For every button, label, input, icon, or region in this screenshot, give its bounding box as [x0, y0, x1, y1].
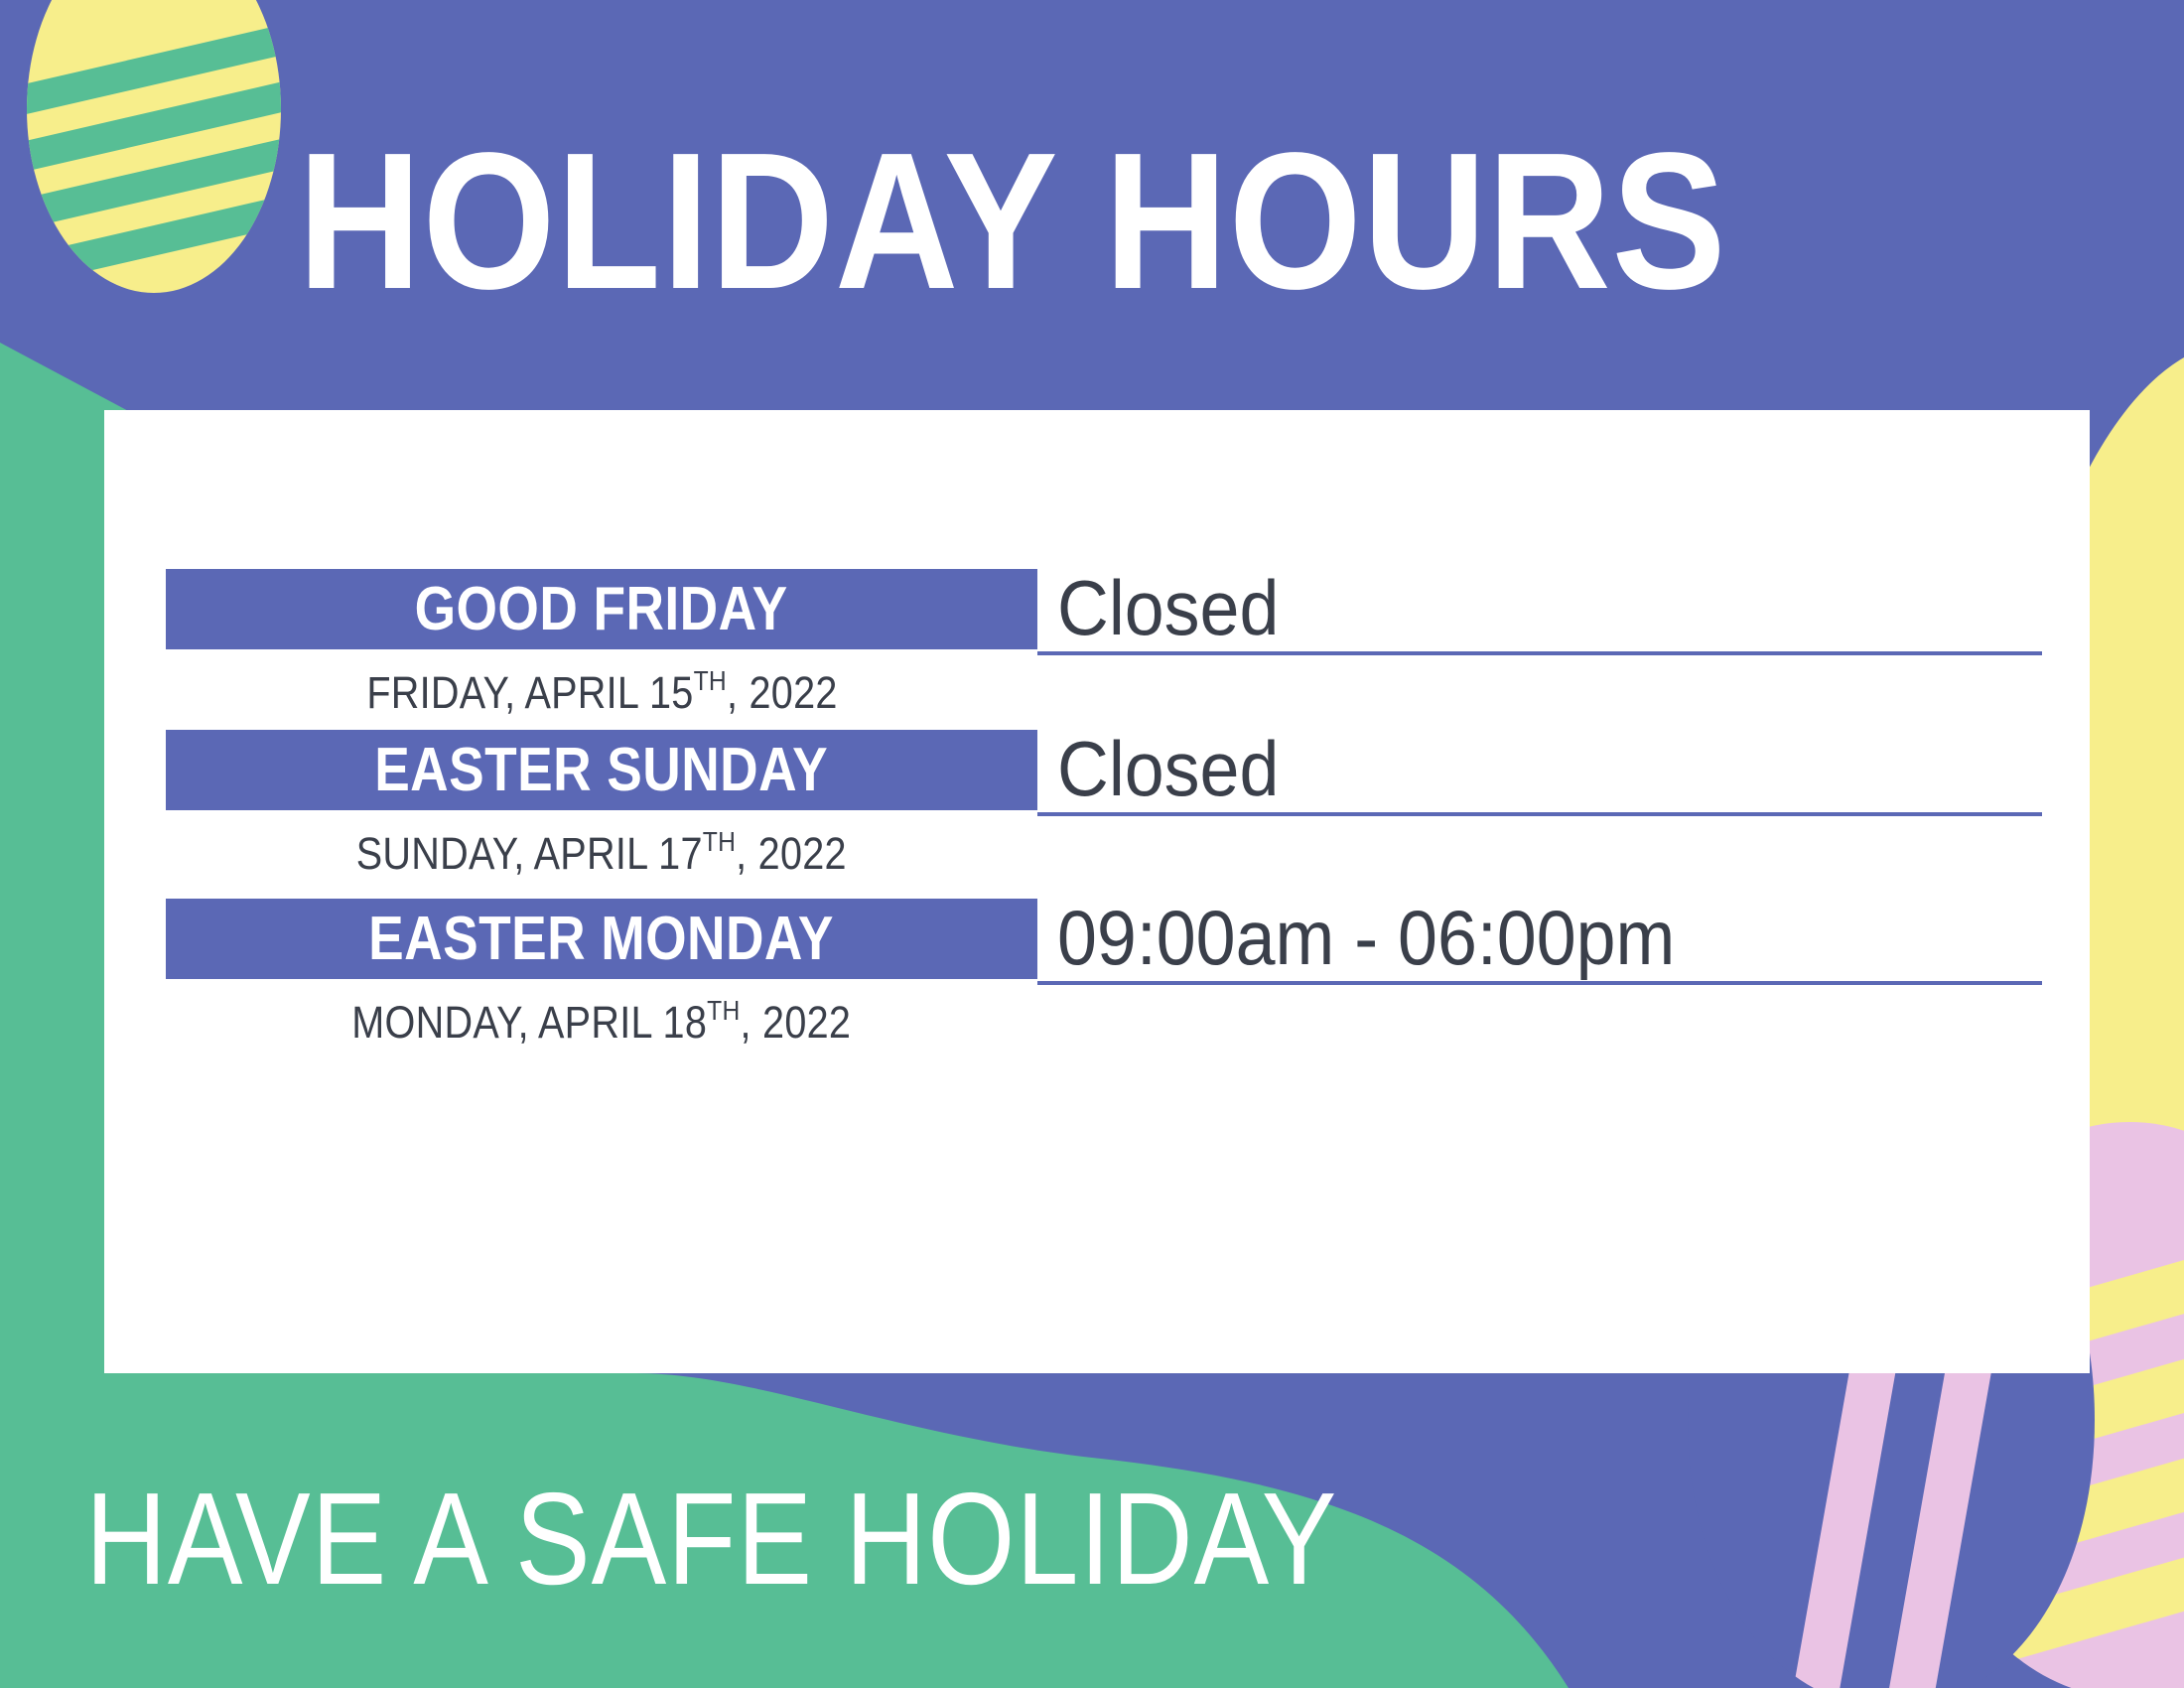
page-title: HOLIDAY HOURS — [298, 117, 1801, 326]
holiday-hours-poster: HOLIDAY HOURS GOOD FRIDAY FRIDAY, APRIL … — [0, 0, 2184, 1688]
holiday-hours-value: Closed — [1057, 565, 1279, 650]
holiday-date-ordinal: TH — [693, 665, 726, 696]
holiday-date-suffix: , 2022 — [736, 828, 847, 879]
holiday-date: SUNDAY, APRIL 17TH, 2022 — [166, 813, 1037, 883]
footer-message-text: HAVE A SAFE HOLIDAY — [85, 1470, 1337, 1609]
holiday-name-bar: EASTER SUNDAY — [166, 730, 1037, 810]
holiday-date-suffix: , 2022 — [726, 667, 837, 718]
holiday-hours-value: Closed — [1057, 726, 1279, 811]
holiday-name-bar: EASTER MONDAY — [166, 899, 1037, 979]
holiday-hours-value: 09:00am - 06:00pm — [1057, 895, 1675, 980]
row-underline — [1037, 981, 2042, 985]
holiday-date: FRIDAY, APRIL 15TH, 2022 — [166, 652, 1037, 722]
holiday-hours-value-wrap: 09:00am - 06:00pm — [1057, 895, 2062, 980]
holiday-date-ordinal: TH — [703, 826, 736, 857]
holiday-name-label: EASTER MONDAY — [369, 909, 835, 970]
holiday-name-label: EASTER SUNDAY — [375, 740, 829, 801]
schedule-card: GOOD FRIDAY FRIDAY, APRIL 15TH, 2022 Clo… — [104, 410, 2090, 1373]
holiday-date: MONDAY, APRIL 18TH, 2022 — [166, 982, 1037, 1052]
holiday-name-label: GOOD FRIDAY — [415, 579, 788, 640]
holiday-hours-value-wrap: Closed — [1057, 726, 2062, 811]
holiday-date-prefix: FRIDAY, APRIL 15 — [366, 667, 693, 718]
holiday-date-ordinal: TH — [707, 995, 740, 1026]
holiday-hours-value-wrap: Closed — [1057, 565, 2062, 650]
holiday-date-prefix: MONDAY, APRIL 18 — [352, 997, 708, 1048]
row-underline — [1037, 651, 2042, 655]
holiday-date-suffix: , 2022 — [741, 997, 852, 1048]
holiday-name-bar: GOOD FRIDAY — [166, 569, 1037, 649]
row-underline — [1037, 812, 2042, 816]
footer-message: HAVE A SAFE HOLIDAY — [85, 1470, 1674, 1609]
holiday-date-prefix: SUNDAY, APRIL 17 — [356, 828, 703, 879]
